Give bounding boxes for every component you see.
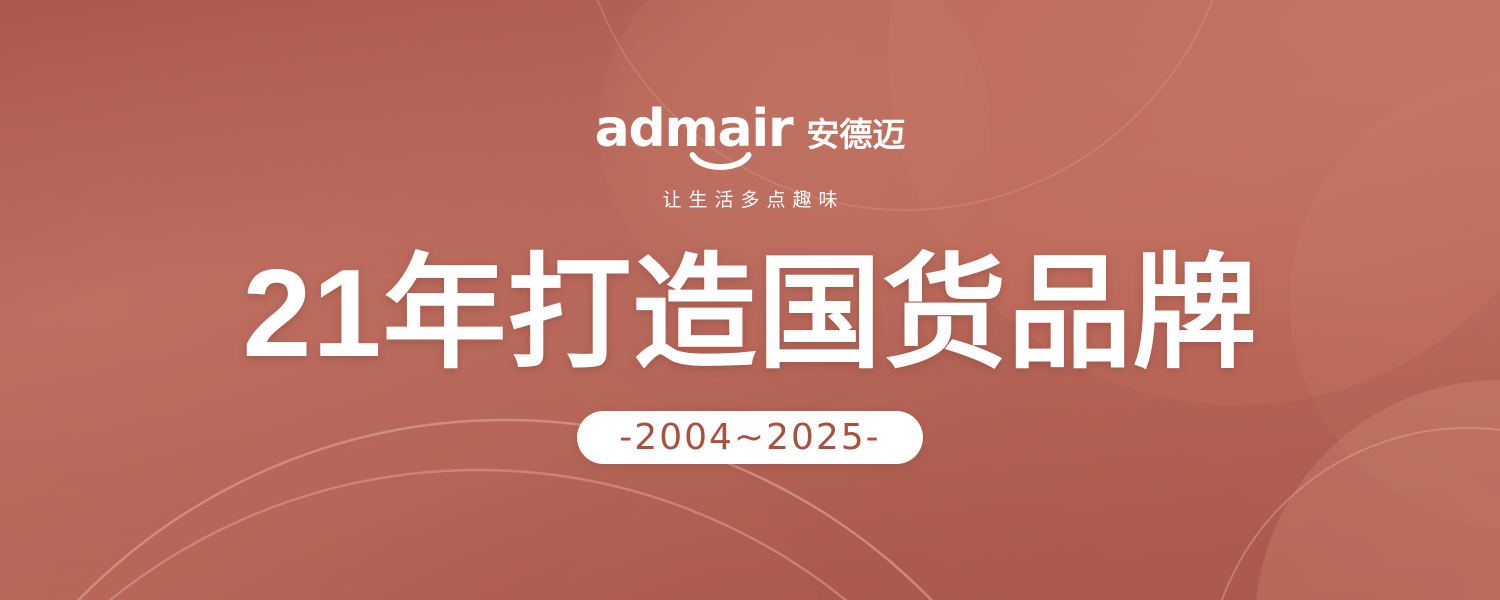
year-range-text: -2004~2025- <box>619 420 880 456</box>
logo-wordmark: admair <box>595 103 793 155</box>
year-range-badge: -2004~2025- <box>577 411 923 464</box>
logo-wordmark-wrap: admair <box>595 103 793 155</box>
banner-content: admair 安德迈 让生活多点趣味 21年打造国货品牌 -2004~2025- <box>0 0 1500 600</box>
logo-chinese-name: 安德迈 <box>806 118 905 151</box>
brand-tagline: 让生活多点趣味 <box>655 185 844 212</box>
brand-logo: admair 安德迈 <box>595 103 906 155</box>
smile-curve-icon <box>690 152 752 172</box>
promo-banner: admair 安德迈 让生活多点趣味 21年打造国货品牌 -2004~2025- <box>0 0 1500 600</box>
headline-text: 21年打造国货品牌 <box>243 252 1258 376</box>
